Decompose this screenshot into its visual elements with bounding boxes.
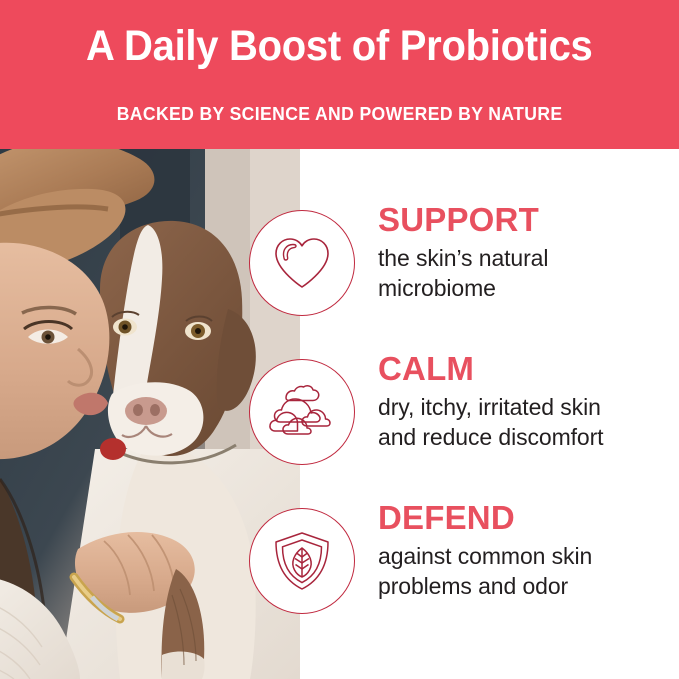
feature-defend: DEFEND against common skin problems and … bbox=[300, 499, 679, 649]
feature-support: SUPPORT the skin’s natural microbiome bbox=[300, 201, 679, 351]
feature-support-body: the skin’s natural microbiome bbox=[378, 243, 678, 303]
feature-calm-body-line-1: dry, itchy, irritated skin bbox=[378, 392, 678, 422]
feature-icon-circle-calm bbox=[249, 359, 355, 465]
feature-defend-body-line-1: against common skin bbox=[378, 541, 678, 571]
feature-support-body-line-1: the skin’s natural bbox=[378, 243, 678, 273]
feature-defend-body: against common skin problems and odor bbox=[378, 541, 678, 601]
heart-icon bbox=[269, 230, 335, 296]
feature-calm-heading: CALM bbox=[378, 350, 678, 388]
clouds-icon bbox=[266, 381, 338, 443]
feature-calm-body-line-2: and reduce discomfort bbox=[378, 422, 678, 452]
feature-defend-text: DEFEND against common skin problems and … bbox=[378, 499, 678, 601]
product-benefits-poster: A Daily Boost of Probiotics BACKED BY SC… bbox=[0, 0, 679, 679]
feature-support-text: SUPPORT the skin’s natural microbiome bbox=[378, 201, 678, 303]
feature-support-body-line-2: microbiome bbox=[378, 273, 678, 303]
feature-defend-body-line-2: problems and odor bbox=[378, 571, 678, 601]
page-title: A Daily Boost of Probiotics bbox=[86, 20, 592, 72]
page-subtitle: BACKED BY SCIENCE AND POWERED BY NATURE bbox=[117, 102, 563, 126]
feature-calm-text: CALM dry, itchy, irritated skin and redu… bbox=[378, 350, 678, 452]
feature-calm-body: dry, itchy, irritated skin and reduce di… bbox=[378, 392, 678, 452]
feature-calm: CALM dry, itchy, irritated skin and redu… bbox=[300, 350, 679, 500]
feature-support-heading: SUPPORT bbox=[378, 201, 678, 239]
feature-icon-circle-support bbox=[249, 210, 355, 316]
feature-defend-heading: DEFEND bbox=[378, 499, 678, 537]
features-panel: SUPPORT the skin’s natural microbiome CA… bbox=[300, 149, 679, 679]
shield-leaf-icon bbox=[268, 527, 336, 595]
header-banner: A Daily Boost of Probiotics BACKED BY SC… bbox=[0, 0, 679, 149]
feature-icon-circle-defend bbox=[249, 508, 355, 614]
